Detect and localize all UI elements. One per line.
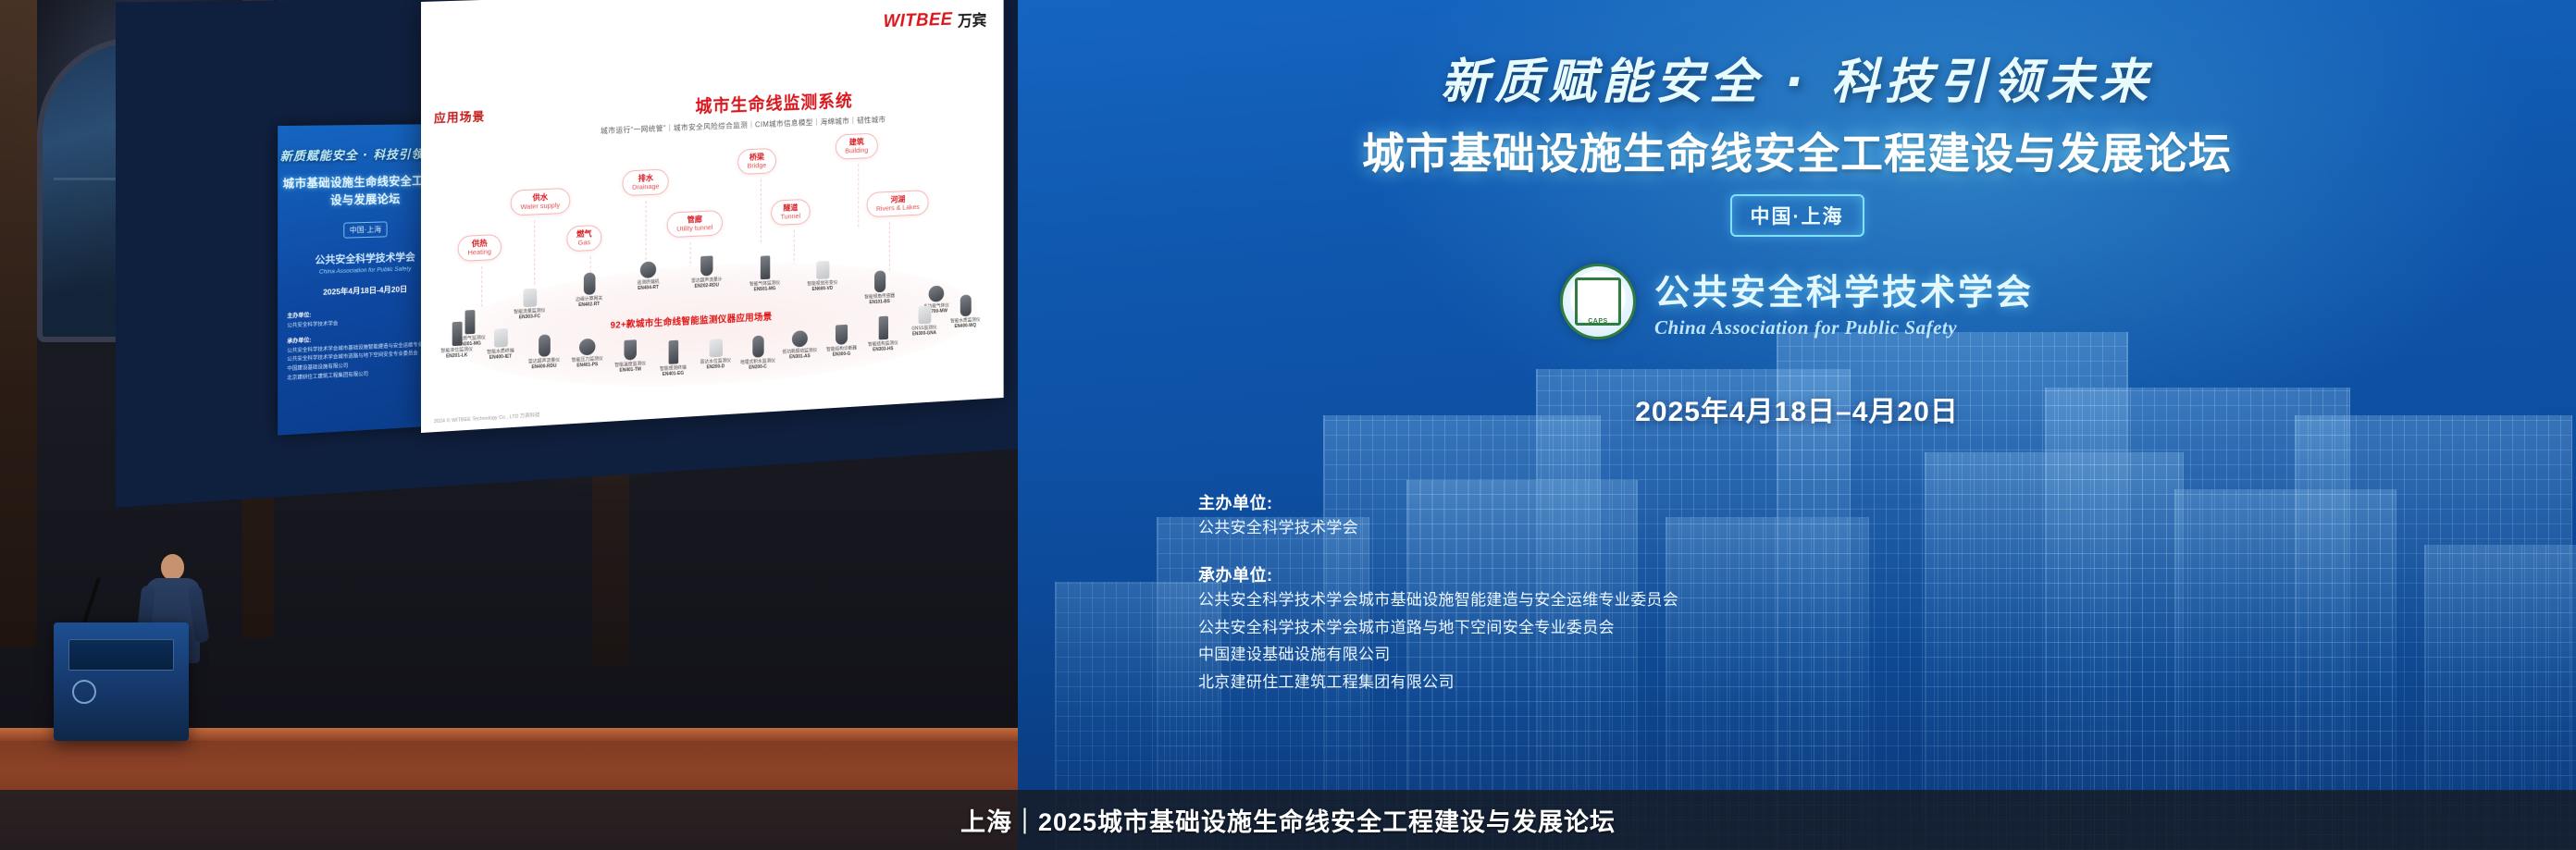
dashed-connector — [646, 201, 647, 265]
device-icon — [918, 306, 931, 325]
banner-association-cn: 公共安全科学技术学会 — [1654, 264, 2034, 314]
side-banner-organizations: 主办单位: 公共安全科学技术学会 承办单位: 公共安全科学技术学会城市基础设施智… — [287, 306, 441, 384]
device-icon — [668, 340, 678, 364]
category-pill: 管廊Utility tunnel — [667, 210, 723, 239]
presentation-slide: WITBEE 万宾 应用场景 城市生命线监测系统 城市运行“一网统管”｜城市安全… — [421, 0, 1004, 433]
device-item: 边缘计算网关EN402-RT — [562, 271, 617, 309]
device-icon — [523, 289, 537, 308]
category-pill-en: Utility tunnel — [676, 224, 712, 233]
device-icon — [816, 260, 829, 278]
side-banner-location-badge: 中国·上海 — [343, 221, 388, 238]
banner-organizations: 主办单位: 公共安全科学技术学会 承办单位: 公共安全科学技术学会城市基础设施智… — [1198, 490, 1678, 696]
banner-association-block: CAPS 公共安全科学技术学会 China Association for Pu… — [1018, 264, 2576, 339]
dashed-connector — [761, 179, 762, 242]
device-row-upper: 智能燃气监测仪EN301-MG智能流量监测仪EN303-FC边缘计算网关EN40… — [421, 0, 1004, 2]
category-pill: 河湖Rivers & Lakes — [867, 190, 929, 218]
category-pill: 供热Heating — [458, 234, 502, 263]
dashed-connector-group — [421, 0, 1004, 2]
caps-logo-text: CAPS — [1563, 318, 1633, 325]
category-pill-en: Water supply — [521, 202, 561, 211]
device-item: 智能流量监测仪EN303-FC — [502, 287, 558, 321]
device-item: 雷达超声流量计EN202-RDU — [679, 254, 734, 289]
organization-line: 公共安全科学技术学会 — [1198, 514, 1678, 542]
dashed-connector — [858, 164, 859, 227]
device-icon — [539, 334, 551, 356]
banner-organizer-list: 公共安全科学技术学会城市基础设施智能建造与安全运维专业委员会公共安全科学技术学会… — [1198, 586, 1678, 696]
caps-emblem-icon: CAPS — [1560, 264, 1636, 339]
caption-text: 上海｜2025城市基础设施生命线安全工程建设与发展论坛 — [960, 802, 1616, 838]
dashed-connector — [534, 220, 535, 285]
conference-hall-scene: 新质赋能安全 · 科技引领未来 城市基础设施生命线安全工程建设与发展论坛 中国·… — [0, 0, 2576, 850]
witbee-logo-cn: 万宾 — [958, 7, 986, 31]
slide-footer-copyright: 2024 © WITBEE Technology Co., LTD 万宾科技 — [434, 411, 540, 425]
device-icon — [700, 255, 712, 276]
bottom-caption-bar: 上海｜2025城市基础设施生命线安全工程建设与发展论坛 — [0, 790, 2576, 850]
organization-line: 公共安全科学技术学会城市基础设施智能建造与安全运维专业委员会 — [1198, 586, 1678, 614]
category-pill-en: Tunnel — [781, 213, 800, 221]
podium-nameplate — [68, 639, 174, 671]
slide-scene-tag: 应用场景 — [434, 106, 485, 126]
banner-location-badge: 中国·上海 — [1730, 194, 1864, 237]
organization-line: 中国建设基础设施有限公司 — [1198, 641, 1678, 669]
device-icon — [760, 255, 769, 279]
banner-host-list: 公共安全科学技术学会 — [1198, 514, 1678, 542]
podium — [54, 622, 189, 741]
organization-line: 北京建研住工建筑工程集团有限公司 — [1198, 669, 1678, 696]
device-row-lower: 智能液位监测仪EN201-LK智能水质终端EN400-IET雷达超声流量仪EN4… — [421, 0, 1004, 2]
witbee-logo-en: WITBEE — [884, 9, 953, 32]
conference-backdrop-banner: 新质赋能安全 · 科技引领未来 城市基础设施生命线安全工程建设与发展论坛 中国·… — [1018, 0, 2576, 850]
device-item: 智能水质监测仪EN400-WQ — [939, 293, 992, 330]
device-icon — [579, 338, 595, 355]
device-icon — [709, 339, 722, 357]
witbee-logo: WITBEE 万宾 — [884, 7, 987, 33]
organization-line: 公共安全科学技术学会城市道路与地下空间安全专业委员会 — [1198, 614, 1678, 642]
category-pill-en: Drainage — [632, 182, 659, 191]
device-item: 遥测终端机EN404-RT — [621, 260, 676, 292]
device-icon — [792, 330, 808, 347]
device-item: 智能视觉形变仪EN600-VD — [796, 259, 849, 292]
banner-location-wrap: 中国·上海 — [1018, 194, 2576, 237]
category-pill: 供水Water supply — [511, 188, 570, 216]
category-pill: 建筑Building — [836, 133, 878, 160]
device-icon — [836, 324, 848, 344]
device-item: 智能倾角传感器EN101-BS — [853, 269, 907, 306]
device-icon — [494, 328, 508, 348]
device-icon — [752, 336, 763, 358]
device-icon — [452, 322, 462, 347]
banner-date: 2025年4月18日–4月20日 — [1018, 388, 2576, 429]
wall-panel — [0, 0, 37, 647]
device-icon — [640, 261, 656, 278]
category-pill: 隧道Tunnel — [771, 199, 810, 227]
banner-main-title: 城市基础设施生命线安全工程建设与发展论坛 — [1018, 120, 2576, 181]
side-banner-organizer-list: 公共安全科学技术学会城市基础设施智能建造与安全运维专业委员会公共安全科学技术学会… — [287, 340, 441, 384]
slide-inner: WITBEE 万宾 应用场景 城市生命线监测系统 城市运行“一网统管”｜城市安全… — [421, 0, 1004, 433]
category-pill: 桥梁Bridge — [737, 148, 775, 176]
banner-content: 新质赋能安全 · 科技引领未来 城市基础设施生命线安全工程建设与发展论坛 中国·… — [1018, 0, 2576, 850]
device-icon — [583, 272, 595, 294]
podium-emblem-icon — [72, 680, 96, 704]
banner-host-label: 主办单位: — [1198, 490, 1678, 514]
device-item: 智能气体监测仪EN501-MG — [737, 254, 792, 293]
category-pill-en: Building — [845, 146, 868, 154]
device-icon — [624, 339, 637, 360]
speaker-head — [161, 554, 184, 580]
category-pill-en: Gas — [576, 239, 592, 247]
device-icon — [878, 316, 887, 340]
category-pill: 燃气Gas — [566, 225, 601, 253]
category-pill-en: Bridge — [748, 162, 767, 170]
device-icon — [874, 270, 885, 292]
category-pill-en: Heating — [468, 248, 491, 257]
category-pill: 排水Drainage — [623, 168, 670, 196]
category-pill-group: 供热Heating供水Water supply燃气Gas排水Drainage管廊… — [421, 0, 1004, 2]
banner-organizer-label: 承办单位: — [1198, 562, 1678, 586]
banner-association-text: 公共安全科学技术学会 China Association for Public … — [1654, 264, 2034, 339]
device-icon — [960, 295, 971, 317]
category-pill-en: Rivers & Lakes — [876, 203, 920, 214]
banner-script-line: 新质赋能安全 · 科技引领未来 — [1018, 43, 2576, 112]
banner-association-en: China Association for Public Safety — [1654, 316, 2034, 339]
